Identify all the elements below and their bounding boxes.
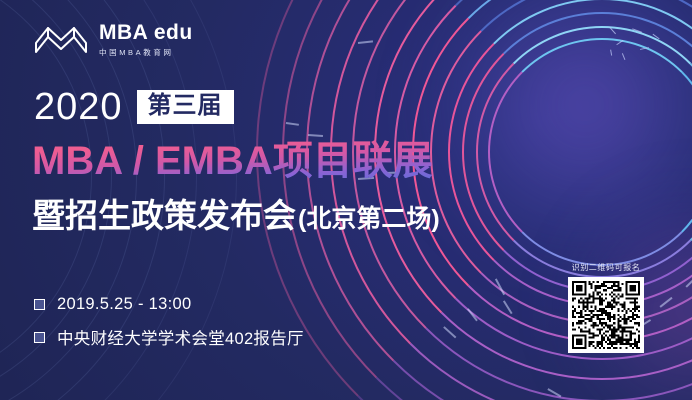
qr-caption: 识别二维码可报名 xyxy=(572,262,641,273)
event-session-label: (北京第二场) xyxy=(298,204,440,234)
detail-row-datetime: 2019.5.25 - 13:00 xyxy=(34,295,304,314)
year-row: 2020 第三届 xyxy=(34,88,234,126)
brand-name: MBA edu xyxy=(99,22,193,44)
radial-tick xyxy=(548,388,562,397)
sparkle-mark xyxy=(632,28,642,33)
event-year: 2020 xyxy=(34,88,123,126)
brand-subtitle: 中国MBA教育网 xyxy=(99,47,193,58)
mba-edu-logo-mark xyxy=(34,23,88,57)
radial-tick xyxy=(358,40,373,43)
radial-tick xyxy=(660,297,673,307)
event-title-main: MBA / EMBA项目联展 xyxy=(32,138,433,184)
radial-tick xyxy=(503,300,512,314)
sparkle-mark xyxy=(640,47,649,50)
concentric-ring xyxy=(412,0,692,342)
radial-tick xyxy=(308,134,323,137)
concentric-ring xyxy=(448,0,692,306)
event-datetime: 2019.5.25 - 13:00 xyxy=(57,295,191,314)
brand-logo-text: MBA edu 中国MBA教育网 xyxy=(99,22,193,58)
radial-tick xyxy=(495,278,505,295)
sparkle-mark xyxy=(652,34,659,40)
bullet-square-icon xyxy=(34,332,45,343)
radial-tick xyxy=(286,122,299,125)
concentric-ring xyxy=(476,26,692,278)
event-details: 2019.5.25 - 13:00 中央财经大学学术会堂402报告厅 xyxy=(34,295,304,360)
event-title-sub-text: 暨招生政策发布会 xyxy=(32,196,296,236)
concentric-ring xyxy=(430,0,692,324)
sparkle-mark xyxy=(609,27,616,35)
ring-glow xyxy=(420,0,692,270)
radial-tick xyxy=(443,326,456,338)
qr-code-icon[interactable] xyxy=(572,281,640,349)
concentric-ring xyxy=(394,0,692,360)
concentric-ring xyxy=(462,12,692,292)
brand-logo: MBA edu 中国MBA教育网 xyxy=(34,22,193,58)
promo-banner: MBA edu 中国MBA教育网 2020 第三届 MBA / EMBA项目联展… xyxy=(0,0,692,400)
concentric-ring xyxy=(488,38,692,266)
sparkle-mark xyxy=(610,50,612,56)
event-venue: 中央财经大学学术会堂402报告厅 xyxy=(57,325,304,349)
qr-registration-block[interactable]: 识别二维码可报名 xyxy=(568,262,644,353)
sparkle-mark xyxy=(622,53,626,60)
event-title-sub: 暨招生政策发布会(北京第二场) xyxy=(32,196,440,236)
bullet-square-icon xyxy=(34,299,45,310)
concentric-ring xyxy=(374,0,692,380)
qr-frame[interactable] xyxy=(568,277,644,353)
sparkle-mark xyxy=(616,40,623,46)
radial-tick xyxy=(467,308,477,321)
radial-tick xyxy=(685,276,692,287)
edition-badge: 第三届 xyxy=(137,90,234,123)
detail-row-venue: 中央财经大学学术会堂402报告厅 xyxy=(34,325,304,349)
